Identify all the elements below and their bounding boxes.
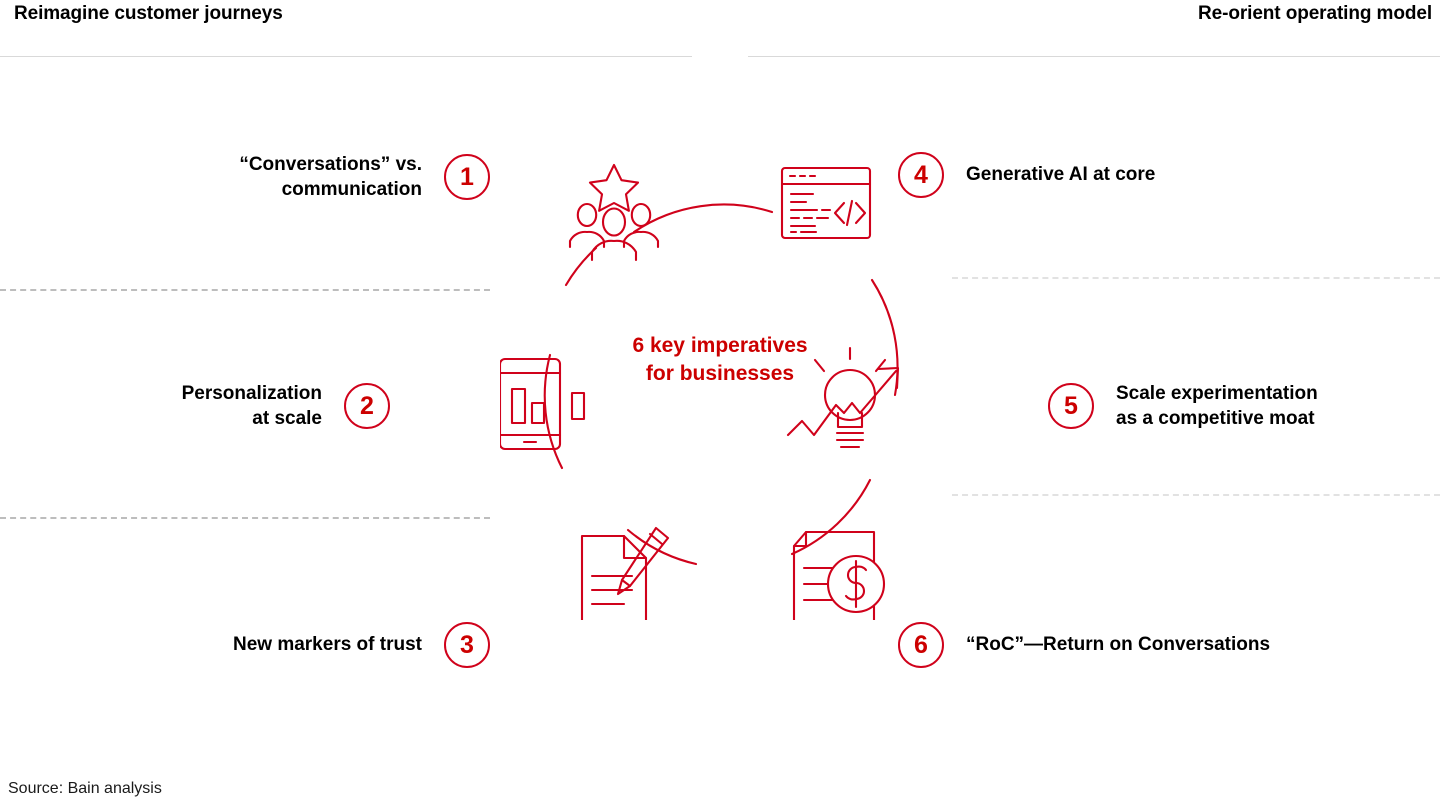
imperative-label-6: “RoC”—Return on Conversations [966,632,1270,657]
mobile-chart-icon [500,359,584,449]
imperative-number-1: 1 [444,154,490,200]
imperative-item-3[interactable]: New markers of trust 3 [233,622,490,668]
document-pencil-icon [582,528,668,620]
imperative-item-6[interactable]: 6 “RoC”—Return on Conversations [898,622,1270,668]
divider-left-upper [0,289,490,291]
header-rule-left [0,56,692,57]
imperative-label-2: Personalization at scale [182,381,322,432]
code-window-icon [782,168,870,238]
imperative-label-5: Scale experimentation as a competitive m… [1116,381,1318,432]
source-note: Source: Bain analysis [8,780,162,798]
imperative-number-6: 6 [898,622,944,668]
imperative-label-4: Generative AI at core [966,162,1155,187]
imperative-number-5: 5 [1048,383,1094,429]
divider-right-lower [952,494,1440,496]
imperative-item-2[interactable]: Personalization at scale 2 [182,381,390,432]
imperative-number-4: 4 [898,152,944,198]
divider-right-upper [952,277,1440,279]
imperative-item-5[interactable]: 5 Scale experimentation as a competitive… [1048,381,1318,432]
imperative-item-4[interactable]: 4 Generative AI at core [898,152,1155,198]
imperative-item-1[interactable]: “Conversations” vs. communication 1 [239,152,490,203]
divider-left-lower [0,517,490,519]
header-right-title: Re-orient operating model [1198,3,1432,25]
imperative-number-3: 3 [444,622,490,668]
header-rule-right [748,56,1440,57]
imperative-label-3: New markers of trust [233,632,422,657]
people-star-icon [570,165,658,260]
imperative-label-1: “Conversations” vs. communication [239,152,422,203]
header-left-title: Reimagine customer journeys [14,3,283,25]
center-label: 6 key imperatives for businesses [620,332,820,387]
imperative-number-2: 2 [344,383,390,429]
